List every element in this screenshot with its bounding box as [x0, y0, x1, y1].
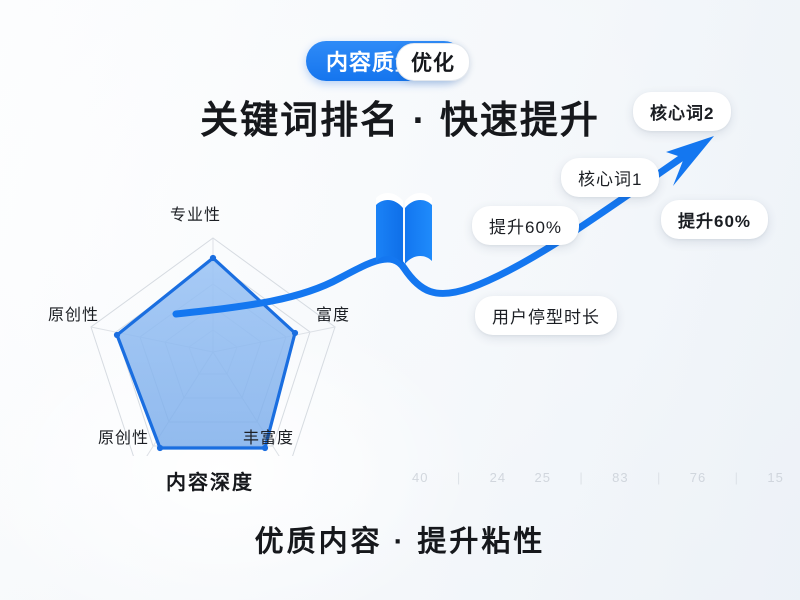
ghost-axis-tick: |: [735, 470, 739, 485]
ghost-axis-value: 40: [412, 470, 428, 485]
callout-boost-right: 提升60%: [661, 200, 768, 239]
ghost-axis-tick: |: [579, 470, 583, 485]
callout-dwell-time: 用户停型时长: [475, 296, 617, 335]
radar-data-area: [117, 258, 295, 448]
ghost-axis-value: 76: [690, 470, 706, 485]
ghost-axis-tick: |: [657, 470, 661, 485]
callout-keyword-1: 核心词1: [561, 158, 659, 197]
radar-axis-label-bottom-right: 丰富度: [243, 424, 294, 448]
ghost-axis-value: 83: [612, 470, 628, 485]
badge-chip: 优化: [396, 43, 470, 81]
depth-caption: 内容深度: [166, 466, 254, 495]
callout-keyword-2: 核心词2: [633, 92, 731, 131]
ghost-axis-value: 25: [535, 470, 551, 485]
ghost-axis-value: 24: [490, 470, 506, 485]
radar-axis-label-right: 富度: [316, 301, 350, 325]
ghost-axis-value: 15: [767, 470, 783, 485]
radar-chart: 专业性 富度 丰富度 原创性 原创性: [40, 196, 370, 456]
radar-axis-label-left: 原创性: [48, 301, 99, 325]
radar-chart-svg: [40, 196, 370, 456]
poster-canvas: 专业性 富度 丰富度 原创性 原创性 内容深度 内容质量: [0, 0, 800, 600]
ghost-axis-tick: |: [457, 470, 461, 485]
page-subtitle: 优质内容 · 提升粘性: [0, 518, 800, 560]
ghost-axis-row: 40 | 24 25 | 83 | 76 | 15: [412, 466, 784, 488]
callout-boost-left: 提升60%: [472, 206, 579, 245]
open-book-icon: [374, 186, 434, 266]
badge-group: 内容质量 优化: [306, 41, 464, 81]
radar-axis-label-bottom-left: 原创性: [98, 424, 149, 448]
radar-axis-label-top: 专业性: [170, 201, 221, 225]
